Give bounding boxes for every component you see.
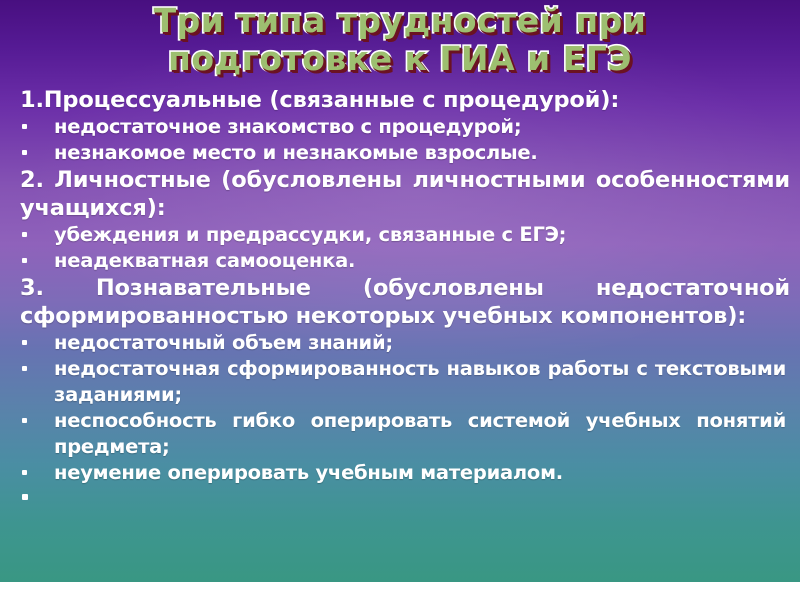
slide-title: Три типа трудностей при подготовке к ГИА… <box>0 2 800 78</box>
bullet-square-icon <box>22 258 27 263</box>
section-3: 3. Познавательные (обусловлены недостато… <box>0 274 800 512</box>
list-item-label: неумение оперировать учебным материалом. <box>54 461 563 484</box>
bullet-square-icon <box>22 470 27 475</box>
bottom-white-strip <box>0 582 800 600</box>
section-3-bullet-list: недостаточный объем знаний; недостаточна… <box>0 330 800 512</box>
list-item-label: убеждения и предрассудки, связанные с ЕГ… <box>54 223 566 246</box>
list-item-label: недостаточное знакомство с процедурой; <box>54 115 521 138</box>
list-item-empty <box>0 486 786 512</box>
list-item: неспособность гибко оперировать системой… <box>0 408 786 460</box>
list-item: недостаточный объем знаний; <box>0 330 786 356</box>
title-line-2: подготовке к ГИА и ЕГЭ <box>0 40 800 78</box>
bullet-square-icon <box>22 150 27 155</box>
section-1-heading: 1.Процессуальные (связанные с процедурой… <box>20 86 790 114</box>
bullet-square-icon <box>22 124 27 129</box>
section-2-heading: 2. Личностные (обусловлены личностными о… <box>20 166 790 222</box>
section-2: 2. Личностные (обусловлены личностными о… <box>0 166 800 274</box>
section-2-bullet-list: убеждения и предрассудки, связанные с ЕГ… <box>0 222 800 274</box>
bullet-square-icon <box>22 494 28 500</box>
list-item-label: неадекватная самооценка. <box>54 249 355 272</box>
list-item: недостаточное знакомство с процедурой; <box>0 114 786 140</box>
list-item: недостаточная сформированность навыков р… <box>0 356 786 408</box>
list-item-label: недостаточный объем знаний; <box>54 331 393 354</box>
slide-body: 1.Процессуальные (связанные с процедурой… <box>0 86 800 512</box>
bullet-square-icon <box>22 232 27 237</box>
section-1-bullet-list: недостаточное знакомство с процедурой; н… <box>0 114 800 166</box>
slide-canvas: Три типа трудностей при подготовке к ГИА… <box>0 0 800 582</box>
list-item: неумение оперировать учебным материалом. <box>0 460 786 486</box>
bullet-square-icon <box>22 366 27 371</box>
list-item-label: неспособность гибко оперировать системой… <box>54 409 786 458</box>
bullet-square-icon <box>22 418 27 423</box>
section-3-heading: 3. Познавательные (обусловлены недостато… <box>20 274 790 330</box>
title-line-1: Три типа трудностей при <box>0 2 800 40</box>
list-item-label: недостаточная сформированность навыков р… <box>54 357 786 406</box>
section-1: 1.Процессуальные (связанные с процедурой… <box>0 86 800 166</box>
bullet-square-icon <box>22 340 27 345</box>
list-item: неадекватная самооценка. <box>0 248 786 274</box>
list-item: убеждения и предрассудки, связанные с ЕГ… <box>0 222 786 248</box>
list-item: незнакомое место и незнакомые взрослые. <box>0 140 786 166</box>
list-item-label: незнакомое место и незнакомые взрослые. <box>54 141 538 164</box>
